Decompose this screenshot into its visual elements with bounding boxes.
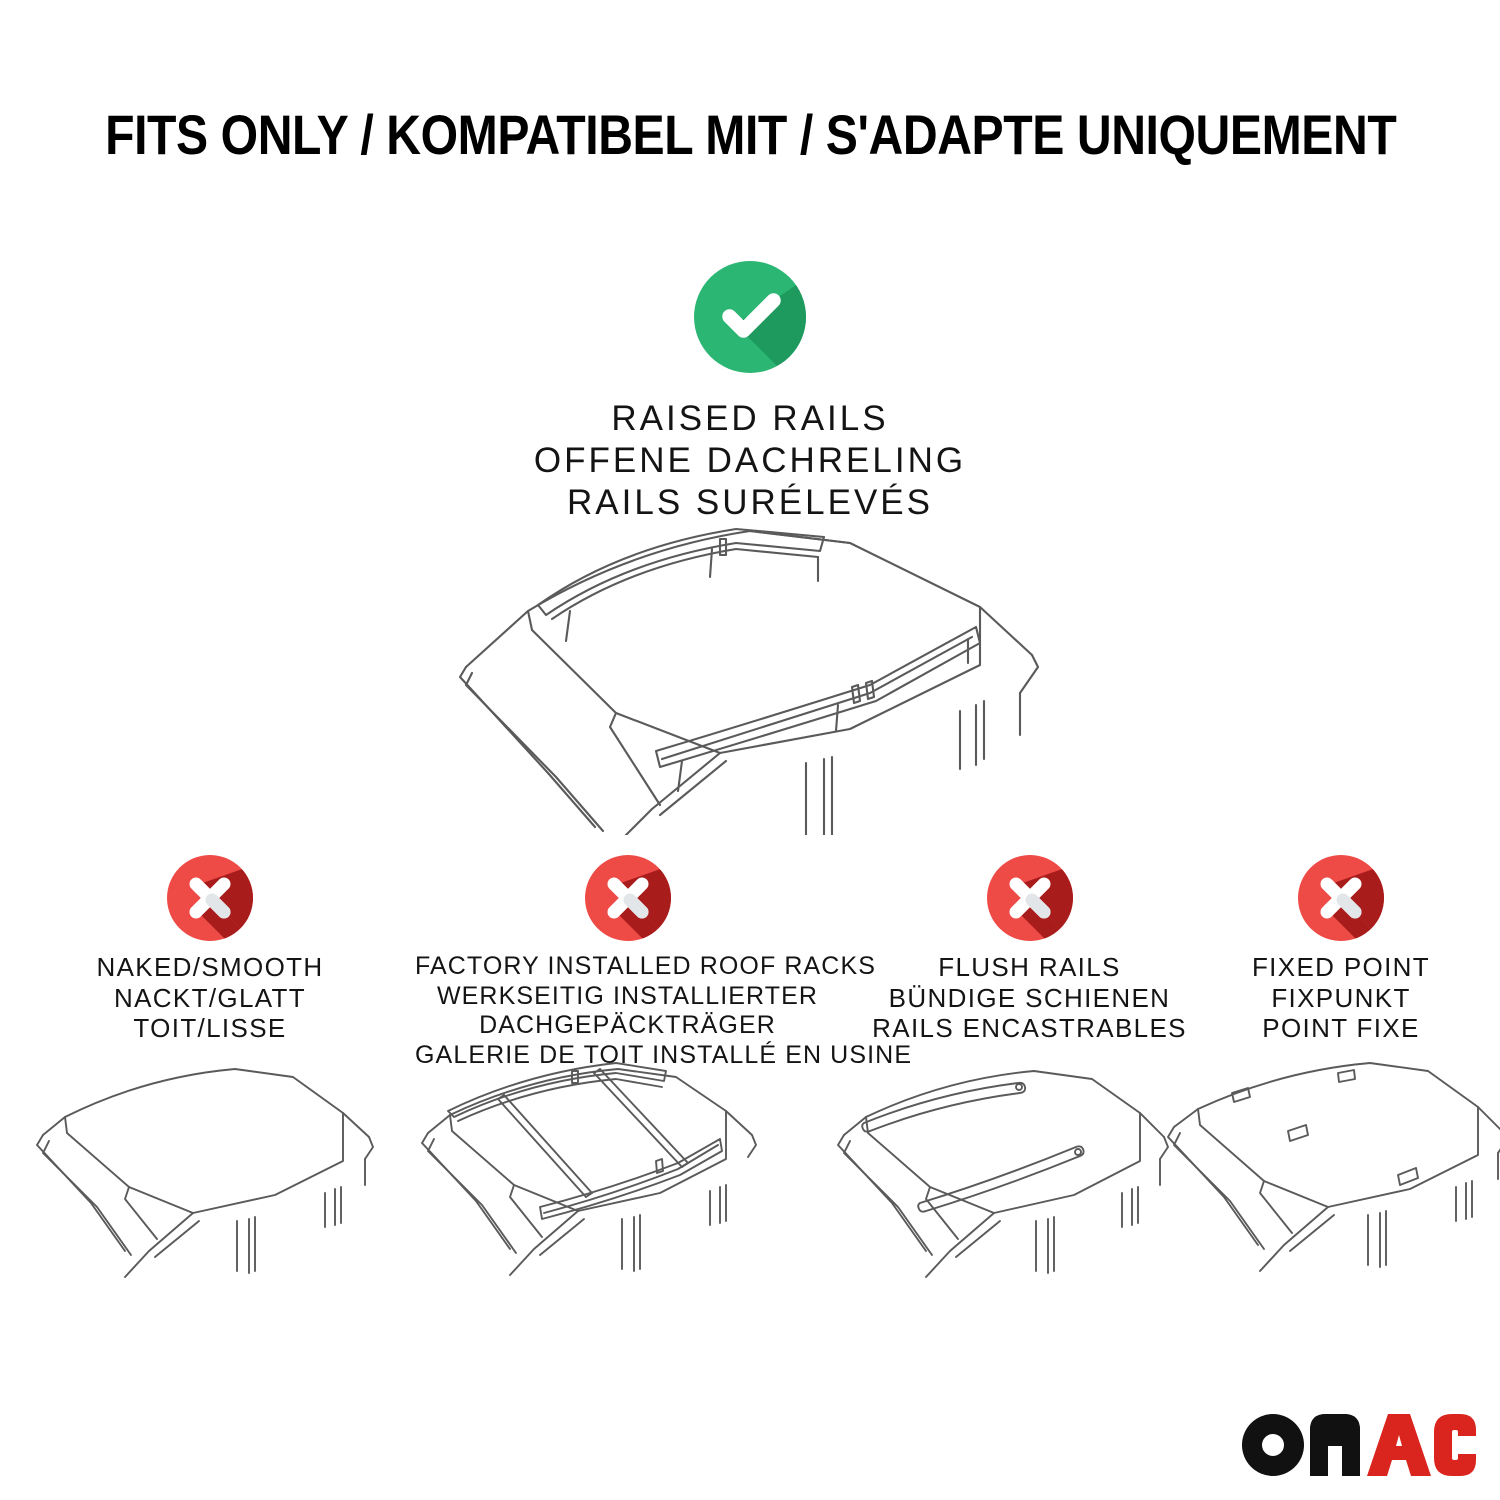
label-line: OFFENE DACHRELING	[375, 440, 1125, 482]
label-line: TOIT/LISSE	[35, 1013, 385, 1044]
option-factory-roof-racks-labels: FACTORY INSTALLED ROOF RACKS WERKSEITIG …	[415, 952, 840, 1070]
option-naked-smooth: NAKED/SMOOTH NACKT/GLATT TOIT/LISSE	[35, 853, 385, 1044]
header: FITS ONLY / KOMPATIBEL MIT / S'ADAPTE UN…	[0, 104, 1500, 166]
label-line: BÜNDIGE SCHIENEN	[862, 983, 1197, 1014]
illustration-raised-rails	[420, 515, 1060, 835]
illustration-flush-rails	[820, 1055, 1170, 1300]
page-title: FITS ONLY / KOMPATIBEL MIT / S'ADAPTE UN…	[105, 104, 1396, 166]
cross-circle-icon	[583, 853, 673, 943]
option-naked-smooth-labels: NAKED/SMOOTH NACKT/GLATT TOIT/LISSE	[35, 952, 385, 1044]
option-fixed-point: FIXED POINT FIXPUNKT POINT FIXE	[1205, 853, 1477, 1044]
label-line: POINT FIXE	[1205, 1013, 1477, 1044]
label-line: FIXPUNKT	[1205, 983, 1477, 1014]
check-circle-icon	[691, 258, 809, 376]
option-flush-rails-labels: FLUSH RAILS BÜNDIGE SCHIENEN RAILS ENCAS…	[862, 952, 1197, 1044]
illustration-factory-crossbars	[410, 1055, 760, 1300]
label-line: FIXED POINT	[1205, 952, 1477, 983]
label-line: NAKED/SMOOTH	[35, 952, 385, 983]
label-line: FLUSH RAILS	[862, 952, 1197, 983]
label-line: RAILS ENCASTRABLES	[862, 1013, 1197, 1044]
omac-logo	[1238, 1408, 1476, 1480]
illustration-bare-roof	[25, 1055, 375, 1300]
cross-circle-icon	[165, 853, 255, 943]
illustration-fixed-points	[1160, 1055, 1500, 1300]
option-fixed-point-labels: FIXED POINT FIXPUNKT POINT FIXE	[1205, 952, 1477, 1044]
label-line: NACKT/GLATT	[35, 983, 385, 1014]
label-line: RAISED RAILS	[375, 398, 1125, 440]
label-line: WERKSEITIG INSTALLIERTER	[415, 982, 840, 1012]
option-flush-rails: FLUSH RAILS BÜNDIGE SCHIENEN RAILS ENCAS…	[862, 853, 1197, 1044]
option-raised-rails: RAISED RAILS OFFENE DACHRELING RAILS SUR…	[375, 258, 1125, 524]
cross-circle-icon	[985, 853, 1075, 943]
cross-circle-icon	[1296, 853, 1386, 943]
label-line: FACTORY INSTALLED ROOF RACKS	[415, 952, 840, 982]
option-factory-roof-racks: FACTORY INSTALLED ROOF RACKS WERKSEITIG …	[415, 853, 840, 1070]
option-raised-rails-labels: RAISED RAILS OFFENE DACHRELING RAILS SUR…	[375, 398, 1125, 524]
label-line: DACHGEPÄCKTRÄGER	[415, 1011, 840, 1041]
